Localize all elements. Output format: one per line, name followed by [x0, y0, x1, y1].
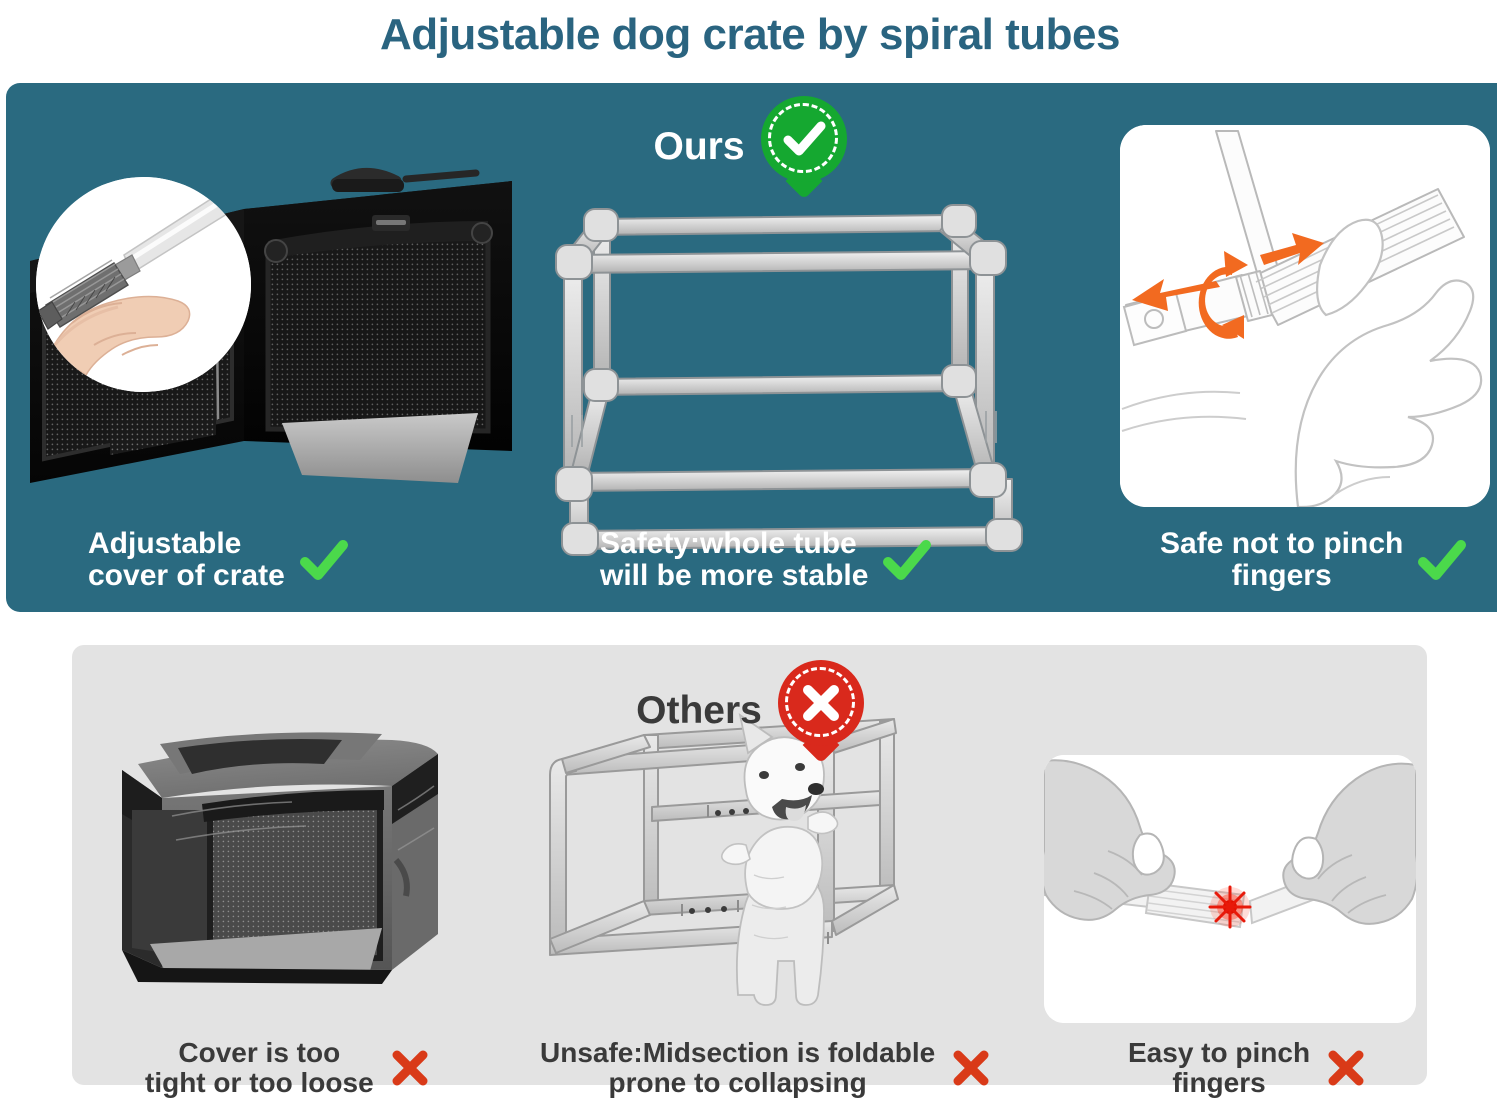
ours-label: Ours [653, 127, 744, 166]
caption-adjustable-cover: Adjustable cover of crate [88, 528, 349, 592]
pinch-fingers-illustration-card [1044, 755, 1416, 1023]
spiral-tube-inset-photo [36, 177, 251, 392]
check-icon [299, 538, 349, 582]
infographic-page: Adjustable dog crate by spiral tubes [0, 0, 1500, 1110]
cross-icon [1324, 1046, 1368, 1090]
caption-unsafe-midsection: Unsafe:Midsection is foldable prone to c… [540, 1038, 993, 1097]
ours-section-header: Ours [0, 96, 1500, 196]
cross-circle-pin-icon [778, 660, 864, 760]
cross-icon [388, 1046, 432, 1090]
check-icon [882, 538, 932, 582]
check-circle-pin-icon [761, 96, 847, 196]
caption-safe-not-pinch: Safe not to pinch fingers [1160, 528, 1467, 592]
check-icon [1417, 538, 1467, 582]
others-section-header: Others [0, 660, 1500, 760]
caption-easy-pinch-fingers: Easy to pinch fingers [1128, 1038, 1368, 1097]
caption-safety-whole-tube: Safety:whole tube will be more stable [600, 528, 932, 592]
loose-gray-crate-photo [92, 720, 512, 1020]
caption-cover-too-tight: Cover is too tight or too loose [145, 1038, 432, 1097]
others-label: Others [636, 691, 762, 730]
page-title: Adjustable dog crate by spiral tubes [0, 2, 1500, 68]
cross-icon [949, 1046, 993, 1090]
